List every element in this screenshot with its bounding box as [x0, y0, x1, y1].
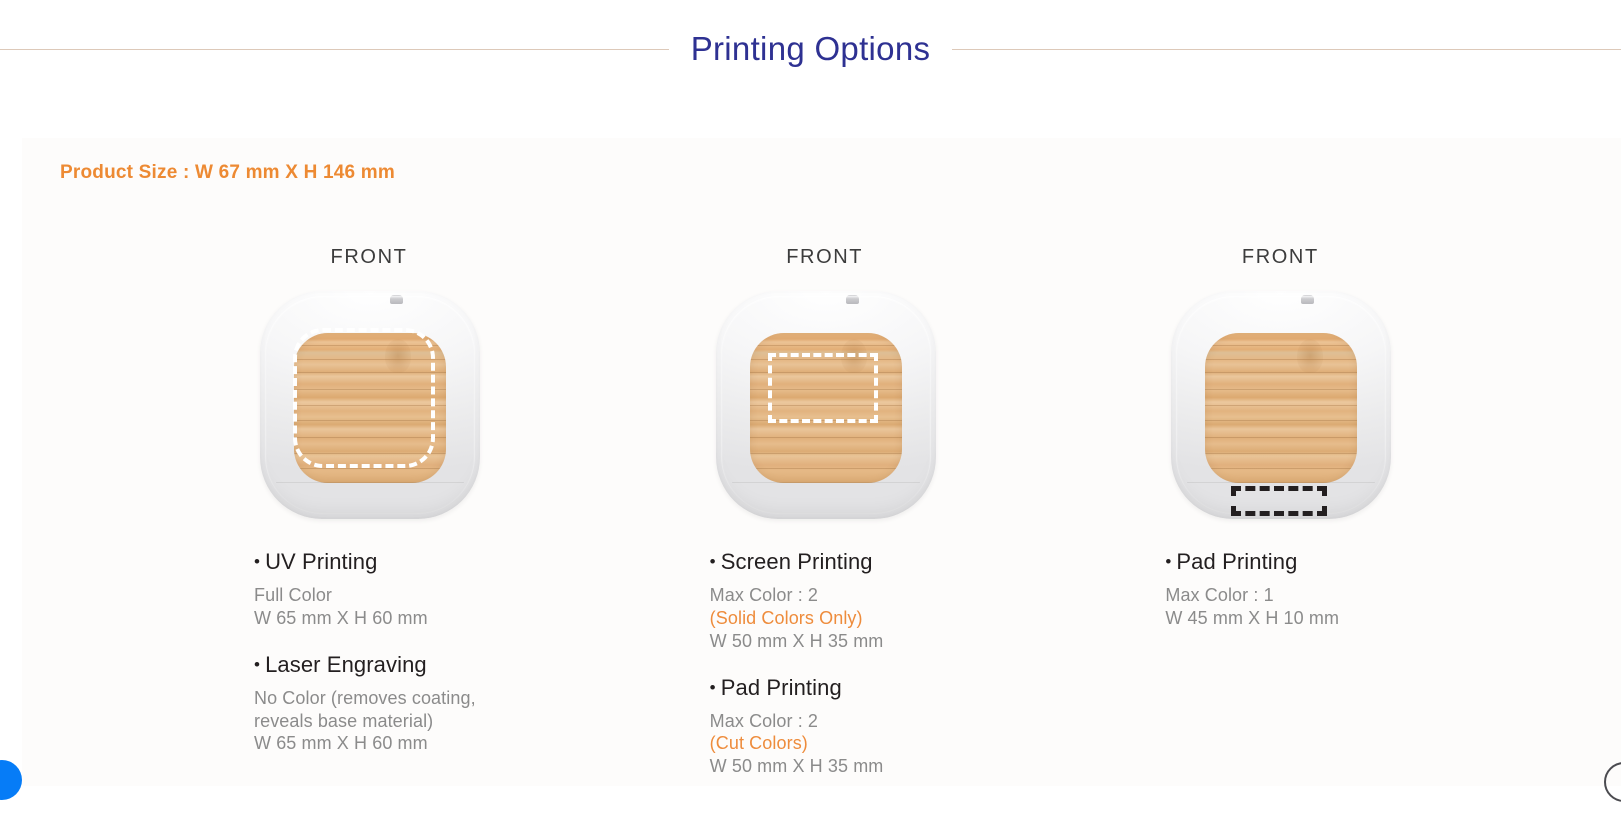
- header-rule-right: [952, 49, 1621, 50]
- spec-line-accent: (Solid Colors Only): [710, 607, 1010, 630]
- printing-option-column-uv: FRONT: [254, 246, 710, 778]
- printing-option-column-pad: FRONT: [1165, 246, 1621, 778]
- spec-line-accent: (Cut Colors): [710, 732, 1010, 755]
- view-label-front: FRONT: [710, 246, 940, 269]
- spec-line: W 50 mm X H 35 mm: [710, 630, 1010, 653]
- spec-title: •UV Printing: [254, 549, 554, 575]
- spec-block-pad-printing: •Pad Printing Max Color : 1 W 45 mm X H …: [1165, 549, 1465, 630]
- printing-option-columns: FRONT: [22, 246, 1621, 778]
- view-label-front: FRONT: [254, 246, 484, 269]
- page-title: Printing Options: [691, 32, 931, 65]
- spec-line: W 65 mm X H 60 mm: [254, 607, 554, 630]
- product-top-button: [390, 295, 403, 304]
- spec-line: W 65 mm X H 60 mm: [254, 732, 554, 755]
- bullet-icon: •: [254, 655, 260, 674]
- bullet-icon: •: [254, 552, 260, 571]
- carousel-prev-button[interactable]: [0, 760, 22, 800]
- printing-options-panel: Product Size : W 67 mm X H 146 mm FRONT: [22, 138, 1621, 786]
- print-area-marker-uv: [293, 328, 435, 468]
- spec-line: W 50 mm X H 35 mm: [710, 755, 1010, 778]
- spec-block-laser-engraving: •Laser Engraving No Color (removes coati…: [254, 652, 554, 756]
- spec-title-text: Pad Printing: [1176, 549, 1297, 574]
- view-label-front: FRONT: [1165, 246, 1395, 269]
- spec-title: •Pad Printing: [1165, 549, 1465, 575]
- product-image-pad: [1165, 281, 1395, 529]
- spec-title-text: Pad Printing: [721, 675, 842, 700]
- product-seam-line: [1187, 482, 1375, 483]
- spec-block-pad-printing: •Pad Printing Max Color : 2 (Cut Colors)…: [710, 675, 1010, 779]
- header-rule-left: [0, 49, 669, 50]
- product-image-uv: [254, 281, 484, 529]
- product-seam-line: [732, 482, 920, 483]
- spec-block-uv-printing: •UV Printing Full Color W 65 mm X H 60 m…: [254, 549, 554, 630]
- spec-list-uv: •UV Printing Full Color W 65 mm X H 60 m…: [254, 549, 554, 755]
- spec-title-text: Screen Printing: [721, 549, 873, 574]
- page-header: Printing Options: [0, 0, 1621, 96]
- print-area-marker-screen: [768, 353, 878, 423]
- spec-title: •Laser Engraving: [254, 652, 554, 678]
- print-area-marker-pad: [1231, 486, 1327, 516]
- product-top-button: [1301, 295, 1314, 304]
- spec-title-text: UV Printing: [265, 549, 377, 574]
- bullet-icon: •: [710, 678, 716, 697]
- spec-title-text: Laser Engraving: [265, 652, 427, 677]
- spec-line: Max Color : 1: [1165, 584, 1465, 607]
- bamboo-panel: [1205, 333, 1357, 483]
- spec-title: •Pad Printing: [710, 675, 1010, 701]
- product-seam-line: [276, 482, 464, 483]
- product-size-label: Product Size : W 67 mm X H 146 mm: [60, 162, 395, 184]
- spec-list-screen: •Screen Printing Max Color : 2 (Solid Co…: [710, 549, 1010, 778]
- printing-option-column-screen: FRONT: [710, 246, 1166, 778]
- spec-line: Max Color : 2: [710, 584, 1010, 607]
- spec-line: Max Color : 2: [710, 710, 1010, 733]
- bullet-icon: •: [1165, 552, 1171, 571]
- spec-block-screen-printing: •Screen Printing Max Color : 2 (Solid Co…: [710, 549, 1010, 653]
- product-image-screen: [710, 281, 940, 529]
- bullet-icon: •: [710, 552, 716, 571]
- product-top-button: [846, 295, 859, 304]
- spec-line: No Color (removes coating,: [254, 687, 554, 710]
- product-body: [1171, 291, 1391, 519]
- spec-list-pad: •Pad Printing Max Color : 1 W 45 mm X H …: [1165, 549, 1465, 630]
- spec-line: W 45 mm X H 10 mm: [1165, 607, 1465, 630]
- spec-title: •Screen Printing: [710, 549, 1010, 575]
- spec-line: reveals base material): [254, 710, 554, 733]
- spec-line: Full Color: [254, 584, 554, 607]
